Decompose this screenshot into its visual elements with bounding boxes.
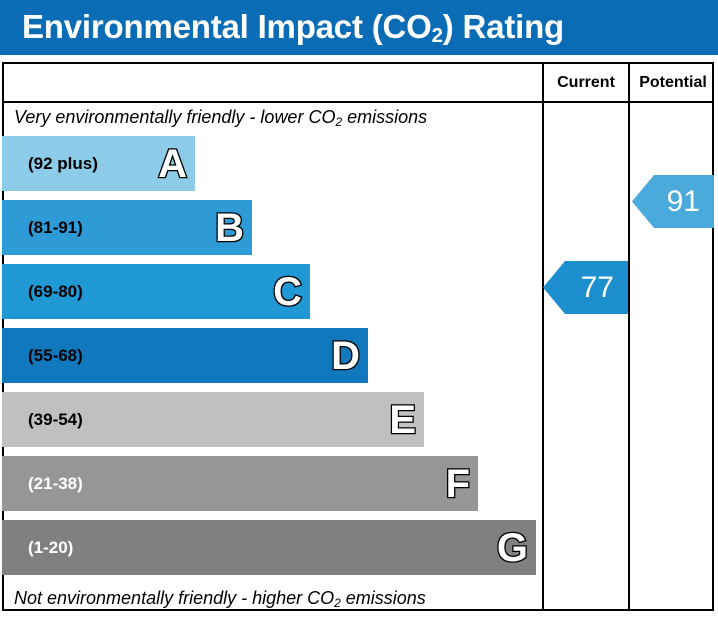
band-range-label-c: (69-80) — [28, 283, 83, 300]
page-title-subscript: 2 — [432, 24, 443, 47]
caption-top-suffix: emissions — [342, 107, 427, 127]
caption-bottom-prefix: Not environmentally friendly - higher CO — [14, 588, 334, 608]
caption-top-subscript: 2 — [335, 115, 342, 129]
caption-bottom-subscript: 2 — [334, 596, 341, 610]
column-header-potential: Potential — [630, 64, 716, 101]
caption-bottom-suffix: emissions — [341, 588, 426, 608]
band-letter-f: F — [446, 464, 470, 504]
band-letter-c: C — [273, 272, 302, 312]
rating-band-b: (81-91)B — [2, 200, 252, 255]
page-title: Environmental Impact (CO2) Rating — [22, 6, 564, 53]
rating-band-e: (39-54)E — [2, 392, 424, 447]
header-divider — [4, 101, 712, 103]
page-title-prefix: Environmental Impact (CO — [22, 8, 432, 45]
rating-band-g: (1-20)G — [2, 520, 536, 575]
rating-value-current: 77 — [581, 273, 628, 303]
rating-band-a: (92 plus)A — [2, 136, 195, 191]
band-letter-b: B — [215, 208, 244, 248]
band-letter-g: G — [497, 528, 528, 568]
band-range-label-a: (92 plus) — [28, 155, 98, 172]
rating-band-c: (69-80)C — [2, 264, 310, 319]
caption-top: Very environmentally friendly - lower CO… — [14, 107, 427, 128]
band-letter-e: E — [389, 400, 416, 440]
page-title-suffix: ) Rating — [443, 8, 564, 45]
band-letter-a: A — [158, 144, 187, 184]
potential-column-divider — [628, 64, 630, 609]
band-range-label-b: (81-91) — [28, 219, 83, 236]
rating-value-potential: 91 — [667, 187, 714, 217]
band-letter-d: D — [331, 336, 360, 376]
chart-title-bar: Environmental Impact (CO2) Rating — [0, 0, 718, 55]
band-range-label-g: (1-20) — [28, 539, 73, 556]
rating-band-f: (21-38)F — [2, 456, 478, 511]
band-range-label-d: (55-68) — [28, 347, 83, 364]
band-range-label-f: (21-38) — [28, 475, 83, 492]
epc-environmental-impact-chart: Environmental Impact (CO2) Rating Curren… — [0, 0, 718, 619]
current-column-divider — [542, 64, 544, 609]
caption-top-prefix: Very environmentally friendly - lower CO — [14, 107, 335, 127]
rating-band-d: (55-68)D — [2, 328, 368, 383]
band-range-label-e: (39-54) — [28, 411, 83, 428]
caption-bottom: Not environmentally friendly - higher CO… — [14, 588, 426, 609]
column-header-current: Current — [544, 64, 628, 101]
